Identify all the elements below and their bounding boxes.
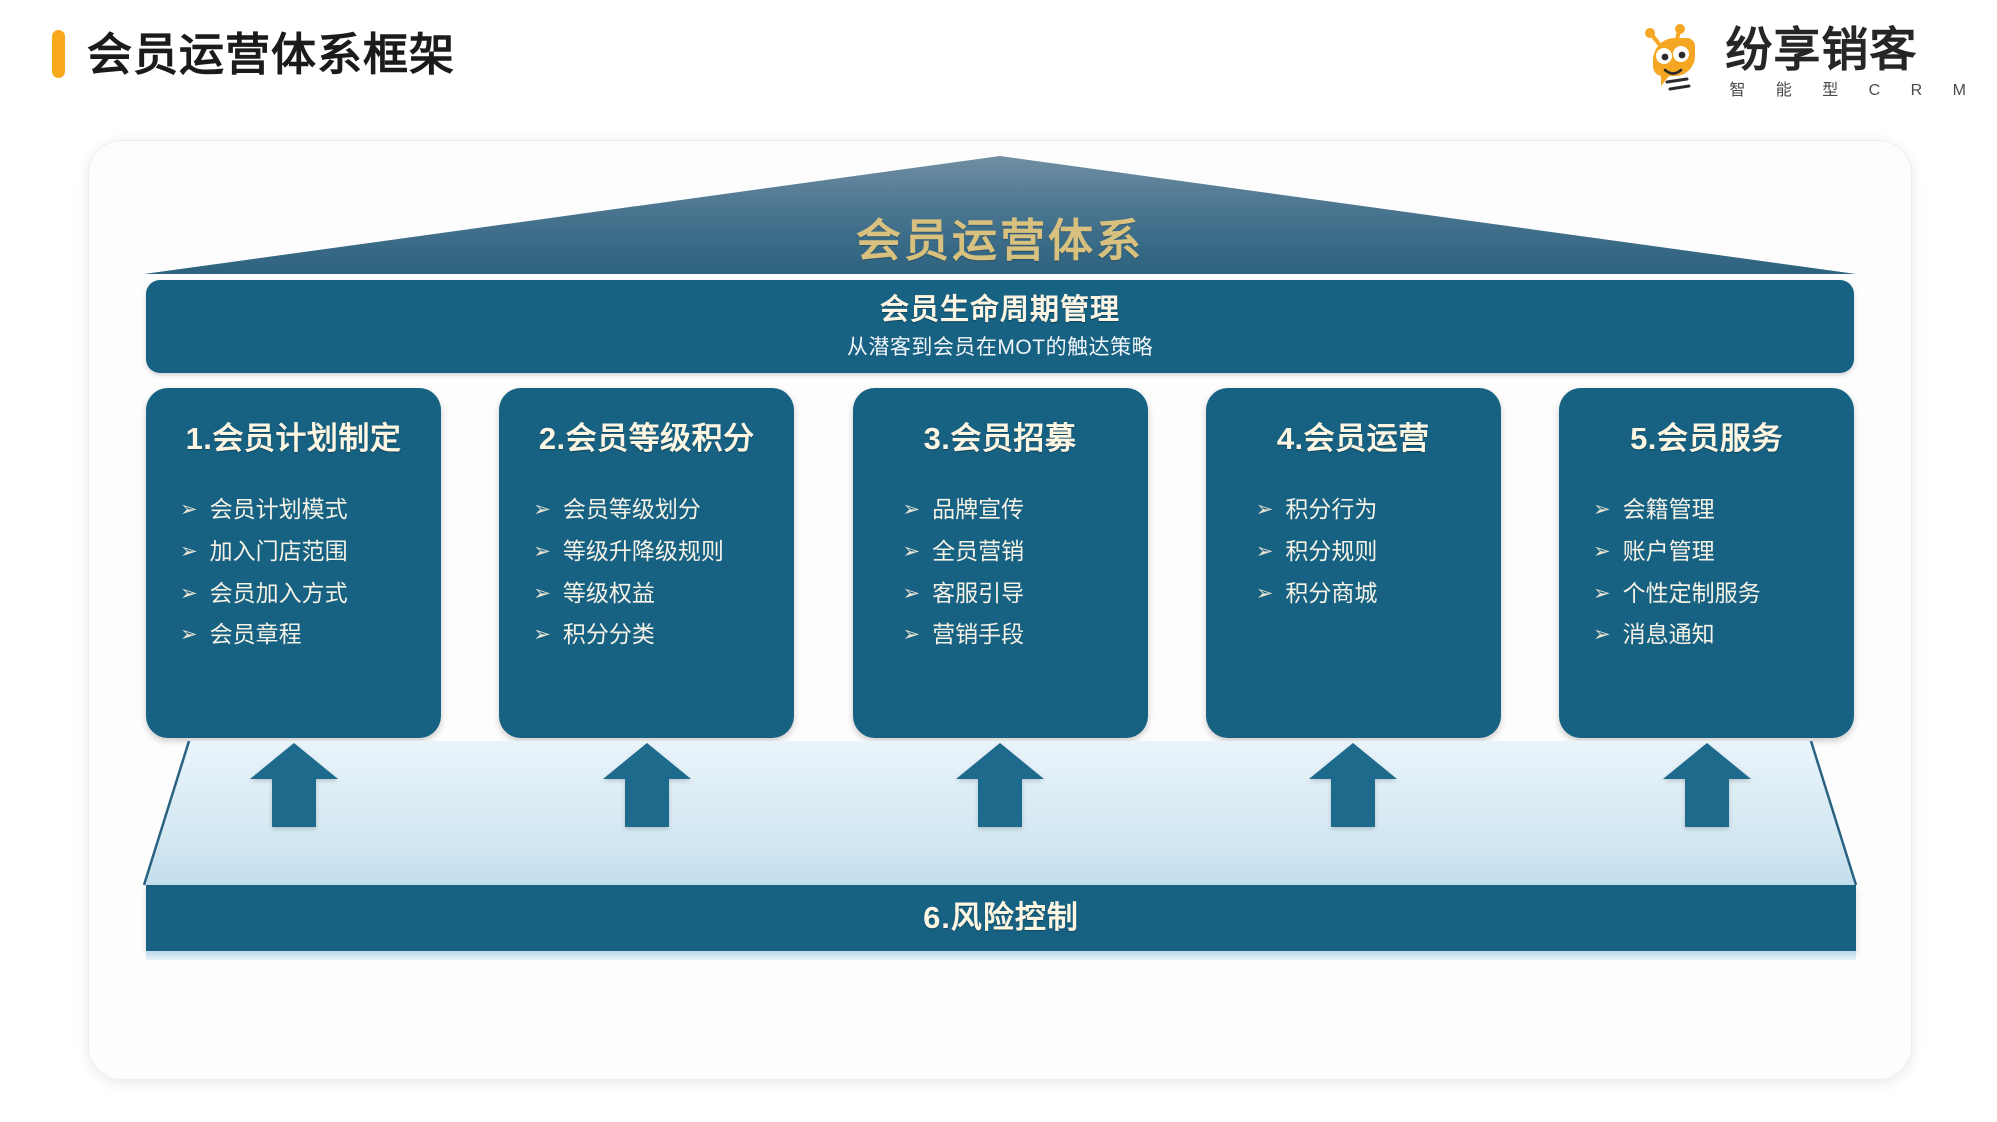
list-item-label: 积分行为 (1285, 495, 1377, 524)
list-item[interactable]: ➢ 会员章程 (180, 620, 441, 649)
risk-control-label: 6.风险控制 (923, 899, 1079, 936)
roof-shape: 会员运营体系 (144, 156, 1856, 280)
brand-logo: 纷享销客 智 能 型 C R M (1639, 22, 1979, 100)
list-item-label: 积分分类 (563, 620, 655, 649)
list-item[interactable]: ➢ 会员等级划分 (533, 495, 794, 524)
arrow-bullet-icon: ➢ (1256, 583, 1274, 604)
arrow-bullet-icon: ➢ (1256, 499, 1274, 520)
list-item-label: 积分商城 (1285, 579, 1377, 608)
list-item[interactable]: ➢ 消息通知 (1593, 620, 1854, 649)
up-arrow-icon (954, 741, 1046, 827)
pillar-title: 3.会员招募 (853, 420, 1148, 457)
brand-tagline: 智 能 型 C R M (1725, 76, 1979, 100)
list-item[interactable]: ➢ 会员加入方式 (180, 579, 441, 608)
list-item-label: 全员营销 (932, 537, 1024, 566)
up-arrow-icon (601, 741, 693, 827)
arrow-bullet-icon: ➢ (180, 541, 198, 562)
arrow-bullet-icon: ➢ (1256, 541, 1274, 562)
title-accent-bar (52, 30, 65, 78)
diagram-stage: 会员运营体系 会员生命周期管理 从潜客到会员在MOT的触达策略 1.会员计划制定… (89, 141, 1911, 1079)
list-item[interactable]: ➢ 等级升降级规则 (533, 537, 794, 566)
list-item-label: 营销手段 (932, 620, 1024, 649)
arrow-bullet-icon: ➢ (1593, 499, 1611, 520)
list-item[interactable]: ➢ 等级权益 (533, 579, 794, 608)
arrow-bullet-icon: ➢ (180, 499, 198, 520)
pillar-title: 1.会员计划制定 (146, 420, 441, 457)
list-item-label: 会员章程 (210, 620, 302, 649)
list-item-label: 消息通知 (1623, 620, 1715, 649)
list-item-label: 积分规则 (1285, 537, 1377, 566)
diagram-frame: 会员运营体系 会员生命周期管理 从潜客到会员在MOT的触达策略 1.会员计划制定… (88, 140, 1912, 1080)
up-arrow-icon (1307, 741, 1399, 827)
arrow-bullet-icon: ➢ (903, 499, 921, 520)
page-title-group: 会员运营体系框架 (52, 30, 455, 78)
pillar-title: 5.会员服务 (1559, 420, 1854, 457)
bee-mascot-icon (1639, 22, 1713, 96)
pillar-item-list: ➢ 积分行为 ➢ 积分规则 ➢ 积分商城 (1206, 495, 1501, 607)
list-item-label: 会员加入方式 (210, 579, 348, 608)
pillar-card-4[interactable]: 4.会员运营 ➢ 积分行为 ➢ 积分规则 ➢ 积分商城 (1206, 388, 1501, 738)
up-arrow-icon (248, 741, 340, 827)
pillar-card-2[interactable]: 2.会员等级积分 ➢ 会员等级划分 ➢ 等级升降级规则 ➢ 等级权益 (499, 388, 794, 738)
list-item-label: 会员等级划分 (563, 495, 701, 524)
list-item-label: 等级权益 (563, 579, 655, 608)
list-item[interactable]: ➢ 积分分类 (533, 620, 794, 649)
risk-control-bar[interactable]: 6.风险控制 (146, 885, 1856, 951)
arrow-bullet-icon: ➢ (1593, 583, 1611, 604)
pillar-item-list: ➢ 品牌宣传 ➢ 全员营销 ➢ 客服引导 ➢ 营销手段 (853, 495, 1148, 649)
list-item[interactable]: ➢ 品牌宣传 (903, 495, 1148, 524)
list-item-label: 会员计划模式 (210, 495, 348, 524)
page-header: 会员运营体系框架 (0, 0, 1997, 128)
pillar-title: 2.会员等级积分 (499, 420, 794, 457)
list-item[interactable]: ➢ 会员计划模式 (180, 495, 441, 524)
lifecycle-banner[interactable]: 会员生命周期管理 从潜客到会员在MOT的触达策略 (146, 280, 1854, 373)
list-item[interactable]: ➢ 加入门店范围 (180, 537, 441, 566)
arrow-bullet-icon: ➢ (1593, 624, 1611, 645)
pillar-card-1[interactable]: 1.会员计划制定 ➢ 会员计划模式 ➢ 加入门店范围 ➢ 会员加入方式 (146, 388, 441, 738)
arrow-slot (853, 741, 1148, 841)
upward-arrow-row (146, 741, 1854, 841)
arrow-slot (1206, 741, 1501, 841)
list-item-label: 会籍管理 (1623, 495, 1715, 524)
pillar-item-list: ➢ 会员计划模式 ➢ 加入门店范围 ➢ 会员加入方式 ➢ 会员章程 (146, 495, 441, 649)
brand-text: 纷享销客 智 能 型 C R M (1725, 22, 1979, 100)
list-item-label: 等级升降级规则 (563, 537, 724, 566)
arrow-bullet-icon: ➢ (180, 583, 198, 604)
arrow-slot (499, 741, 794, 841)
up-arrow-icon (1661, 741, 1753, 827)
list-item-label: 个性定制服务 (1623, 579, 1761, 608)
pillar-item-list: ➢ 会籍管理 ➢ 账户管理 ➢ 个性定制服务 ➢ 消息通知 (1559, 495, 1854, 649)
arrow-bullet-icon: ➢ (180, 624, 198, 645)
list-item-label: 加入门店范围 (210, 537, 348, 566)
arrow-slot (146, 741, 441, 841)
pillar-row: 1.会员计划制定 ➢ 会员计划模式 ➢ 加入门店范围 ➢ 会员加入方式 (146, 388, 1854, 738)
list-item-label: 客服引导 (932, 579, 1024, 608)
list-item[interactable]: ➢ 积分规则 (1256, 537, 1501, 566)
lifecycle-subtitle: 从潜客到会员在MOT的触达策略 (847, 335, 1153, 360)
lifecycle-title: 会员生命周期管理 (880, 293, 1120, 328)
pillar-title: 4.会员运营 (1206, 420, 1501, 457)
list-item[interactable]: ➢ 积分商城 (1256, 579, 1501, 608)
list-item-label: 品牌宣传 (932, 495, 1024, 524)
arrow-bullet-icon: ➢ (533, 541, 551, 562)
arrow-bullet-icon: ➢ (903, 624, 921, 645)
arrow-slot (1559, 741, 1854, 841)
arrow-bullet-icon: ➢ (533, 624, 551, 645)
list-item-label: 账户管理 (1623, 537, 1715, 566)
list-item[interactable]: ➢ 营销手段 (903, 620, 1148, 649)
list-item[interactable]: ➢ 会籍管理 (1593, 495, 1854, 524)
list-item[interactable]: ➢ 账户管理 (1593, 537, 1854, 566)
base-bar-edge (146, 951, 1856, 960)
arrow-bullet-icon: ➢ (533, 499, 551, 520)
arrow-bullet-icon: ➢ (533, 583, 551, 604)
pillar-item-list: ➢ 会员等级划分 ➢ 等级升降级规则 ➢ 等级权益 ➢ 积分分类 (499, 495, 794, 649)
list-item[interactable]: ➢ 个性定制服务 (1593, 579, 1854, 608)
brand-name: 纷享销客 (1725, 26, 1917, 74)
arrow-bullet-icon: ➢ (1593, 541, 1611, 562)
roof-label: 会员运营体系 (144, 204, 1856, 269)
list-item[interactable]: ➢ 全员营销 (903, 537, 1148, 566)
pillar-card-3[interactable]: 3.会员招募 ➢ 品牌宣传 ➢ 全员营销 ➢ 客服引导 ➢ (853, 388, 1148, 738)
arrow-bullet-icon: ➢ (903, 583, 921, 604)
page-title: 会员运营体系框架 (87, 32, 455, 77)
pillar-card-5[interactable]: 5.会员服务 ➢ 会籍管理 ➢ 账户管理 ➢ 个性定制服务 (1559, 388, 1854, 738)
list-item[interactable]: ➢ 客服引导 (903, 579, 1148, 608)
arrow-bullet-icon: ➢ (903, 541, 921, 562)
list-item[interactable]: ➢ 积分行为 (1256, 495, 1501, 524)
